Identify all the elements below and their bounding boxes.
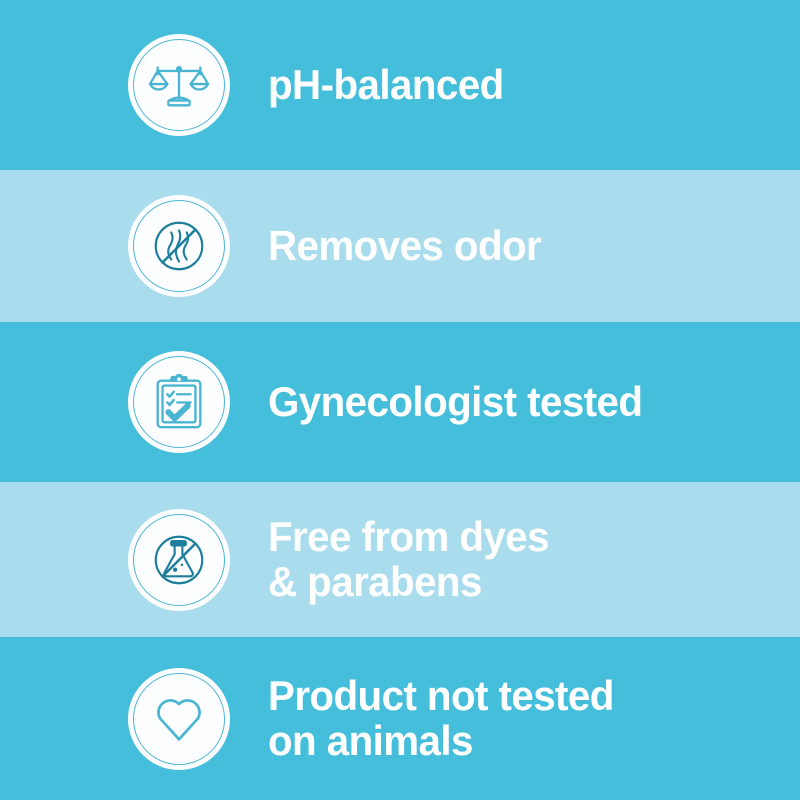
benefit-label: Gynecologist tested [268, 380, 642, 425]
product-benefits-banner: pH-balanced Removes odor [0, 0, 800, 800]
balance-scale-icon [148, 54, 210, 116]
benefit-label: Removes odor [268, 224, 541, 269]
benefit-row-removes-odor: Removes odor [0, 170, 800, 322]
benefit-label: Free from dyes & parabens [268, 515, 549, 604]
benefit-icon-medallion [128, 351, 230, 453]
benefit-icon-medallion [128, 509, 230, 611]
benefit-row-ph-balanced: pH-balanced [0, 0, 800, 170]
benefit-icon-medallion [128, 195, 230, 297]
no-odor-icon [148, 215, 210, 277]
benefit-row-free-from-dyes-parabens: Free from dyes & parabens [0, 482, 800, 637]
no-flask-icon [148, 529, 210, 591]
benefit-icon-medallion [128, 668, 230, 770]
benefit-label: pH-balanced [268, 63, 504, 108]
heart-icon [148, 688, 210, 750]
benefit-icon-medallion [128, 34, 230, 136]
benefit-row-not-tested-on-animals: Product not tested on animals [0, 637, 800, 800]
benefit-label: Product not tested on animals [268, 674, 614, 763]
clipboard-check-icon [148, 371, 210, 433]
benefit-row-gynecologist-tested: Gynecologist tested [0, 322, 800, 482]
